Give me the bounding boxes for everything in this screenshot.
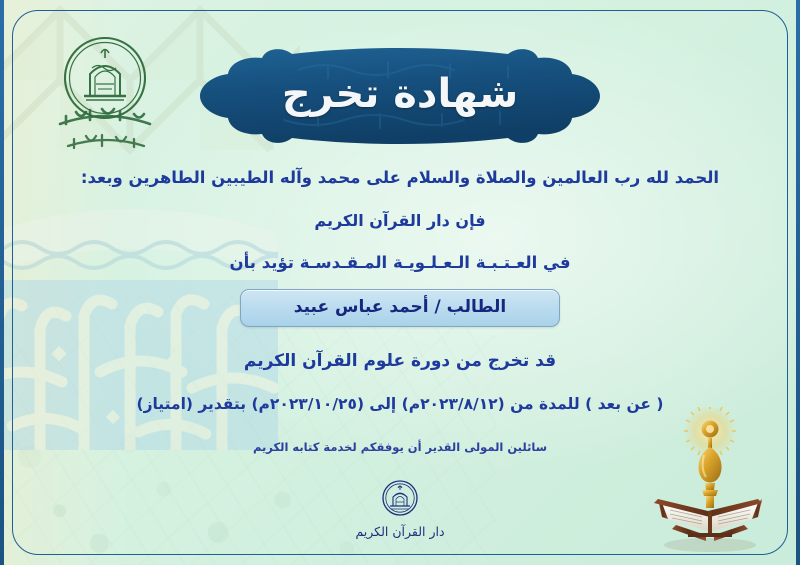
certificate-title: شهادة تخرج [188,46,612,146]
certificate-body: الحمد لله رب العالمين والصلاة والسلام عل… [0,168,800,454]
footer-issuer-name: دار القرآن الكريم [0,524,800,539]
certificate-footer: دار القرآن الكريم [0,475,800,539]
student-name-field: الطالب / أحمد عباس عبيد [0,289,800,327]
body-line-course: قد تخرج من دورة علوم القرآن الكريم [0,351,800,372]
body-line-issuer: فإن دار القرآن الكريم [0,211,800,231]
alawiya-shrine-emblem-icon [46,26,164,154]
body-line-praise: الحمد لله رب العالمين والصلاة والسلام عل… [0,168,800,189]
alawiya-shrine-seal-icon [377,475,423,521]
certificate-page: شهادة تخرج الحمد لله رب العالمين والصلاة… [0,0,800,565]
body-line-blessing: سائلين المولى القدير أن يوفقكم لخدمة كتا… [0,440,800,454]
title-banner: شهادة تخرج [188,46,612,146]
body-line-dates-grade: ( عن بعد ) للمدة من (٢٠٢٣/٨/١٢م) إلى (٢٠… [0,395,800,414]
body-line-authority: في العـتـبـة الـعـلـويـة المـقـدسـة تؤيد… [0,253,800,274]
student-name-value: الطالب / أحمد عباس عبيد [240,289,560,327]
